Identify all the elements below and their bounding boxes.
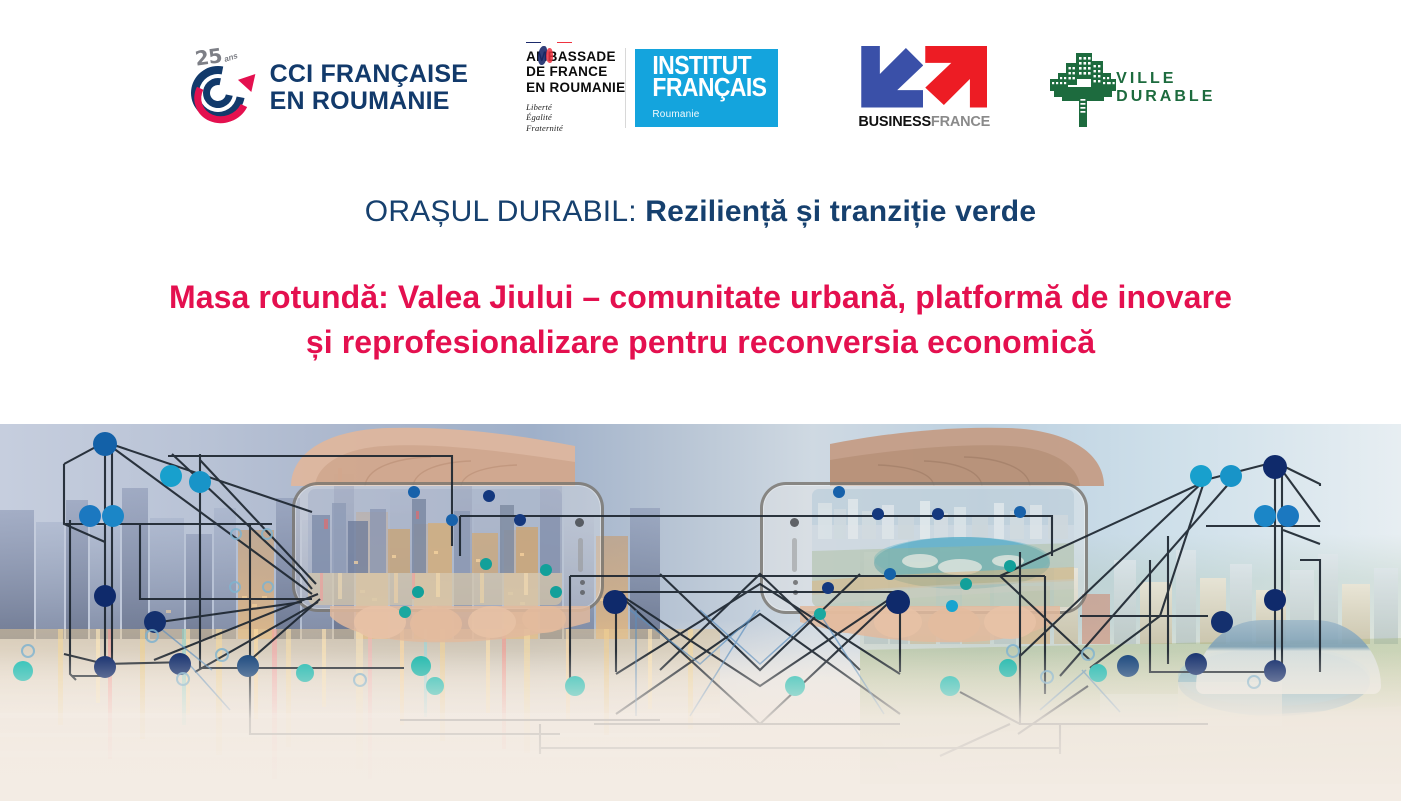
node-small bbox=[833, 486, 845, 498]
node-small bbox=[446, 514, 458, 526]
node-small bbox=[514, 514, 526, 526]
node-cyan bbox=[1220, 465, 1242, 487]
node-cyan bbox=[1190, 465, 1212, 487]
cci-wordmark: CCI FRANÇAISE EN ROUMANIE bbox=[270, 61, 468, 114]
devise-egalite: Égalité bbox=[526, 112, 563, 123]
france-word: FRANCE bbox=[931, 114, 990, 130]
node-small bbox=[1014, 506, 1026, 518]
tree-skyline-svg bbox=[1042, 47, 1124, 129]
node-small bbox=[884, 568, 896, 580]
ambassade-line-3: EN ROUMANIE bbox=[526, 80, 625, 96]
node-small bbox=[483, 490, 495, 502]
logo-divider bbox=[625, 48, 626, 128]
devise-liberte: Liberté bbox=[526, 102, 563, 113]
republique-devise: Liberté Égalité Fraternité bbox=[526, 102, 563, 134]
smart-city-network-banner bbox=[0, 424, 1401, 801]
node-small bbox=[1004, 560, 1016, 572]
node-dark bbox=[1264, 589, 1286, 611]
cci-francaise-logo: 25 ans CCI FRANÇAISE EN ROUMANIE bbox=[186, 45, 468, 131]
node-dark bbox=[93, 432, 117, 456]
business-france-wordmark: BUSINESSFRANCE bbox=[858, 114, 990, 130]
devise-fraternite: Fraternité bbox=[526, 123, 563, 134]
ambassade-line-2: DE FRANCE bbox=[526, 64, 625, 80]
ville-durable-wordmark: VILLE DURABLE bbox=[1116, 70, 1215, 106]
ville-durable-logo: VILLE DURABLE bbox=[1042, 47, 1215, 129]
business-word: BUSINESS bbox=[858, 114, 931, 130]
theme-prefix: ORAȘUL DURABIL: bbox=[365, 195, 646, 228]
cci-emblem-icon: 25 ans bbox=[186, 45, 264, 131]
node-small bbox=[550, 586, 562, 598]
node-small bbox=[480, 558, 492, 570]
node-blue bbox=[1254, 505, 1276, 527]
cci-anniversary-unit: ans bbox=[223, 51, 239, 64]
node-small bbox=[946, 600, 958, 612]
red-up-arrow-icon bbox=[925, 46, 987, 108]
node-small bbox=[540, 564, 552, 576]
institut-line-2: FRANÇAIS bbox=[652, 75, 778, 99]
node-small bbox=[872, 508, 884, 520]
headline-line-1: Masa rotundă: Valea Jiului – comunitate … bbox=[0, 275, 1401, 320]
institut-country: Roumanie bbox=[652, 109, 778, 120]
event-theme-title: ORAȘUL DURABIL: Reziliență și tranziție … bbox=[0, 195, 1401, 229]
node-small bbox=[822, 582, 834, 594]
theme-emphasis: Reziliență și tranziție verde bbox=[645, 195, 1036, 228]
slide-root: 25 ans CCI FRANÇAISE EN ROUMANIE AMBASSA… bbox=[0, 0, 1401, 801]
node-dark bbox=[94, 585, 116, 607]
node-dark bbox=[886, 590, 910, 614]
node-dark bbox=[1211, 611, 1233, 633]
institut-francais-logo: INSTITUT FRANÇAIS Roumanie bbox=[635, 49, 778, 127]
node-dark bbox=[603, 590, 627, 614]
node-cyan bbox=[189, 471, 211, 493]
node-cyan bbox=[160, 465, 182, 487]
ambassade-de-france-logo: AMBASSADE DE FRANCE EN ROUMANIE Liberté … bbox=[526, 42, 625, 134]
node-blue bbox=[79, 505, 101, 527]
node-blue bbox=[1277, 505, 1299, 527]
headline-line-2: și reprofesionalizare pentru reconversia… bbox=[0, 320, 1401, 365]
node-small bbox=[932, 508, 944, 520]
cci-line-2: EN ROUMANIE bbox=[270, 88, 468, 115]
node-small bbox=[960, 578, 972, 590]
partner-logo-bar: 25 ans CCI FRANÇAISE EN ROUMANIE AMBASSA… bbox=[0, 0, 1401, 175]
blue-down-arrow-icon bbox=[861, 46, 923, 108]
node-small bbox=[408, 486, 420, 498]
node-dark bbox=[1263, 455, 1287, 479]
session-headline: Masa rotundă: Valea Jiului – comunitate … bbox=[0, 275, 1401, 366]
node-blue bbox=[102, 505, 124, 527]
business-france-logo: BUSINESSFRANCE bbox=[858, 46, 990, 130]
durable-word: DURABLE bbox=[1116, 88, 1215, 106]
node-small bbox=[399, 606, 411, 618]
ville-word: VILLE bbox=[1116, 70, 1215, 88]
ville-durable-tree-city-icon bbox=[1042, 47, 1124, 129]
business-france-arrows-icon bbox=[861, 46, 987, 108]
bottom-fade-overlay bbox=[0, 651, 1401, 801]
institut-francais-blue-box: INSTITUT FRANÇAIS Roumanie bbox=[635, 49, 778, 127]
cci-line-1: CCI FRANÇAISE bbox=[270, 61, 468, 88]
node-small bbox=[814, 608, 826, 620]
node-small bbox=[412, 586, 424, 598]
